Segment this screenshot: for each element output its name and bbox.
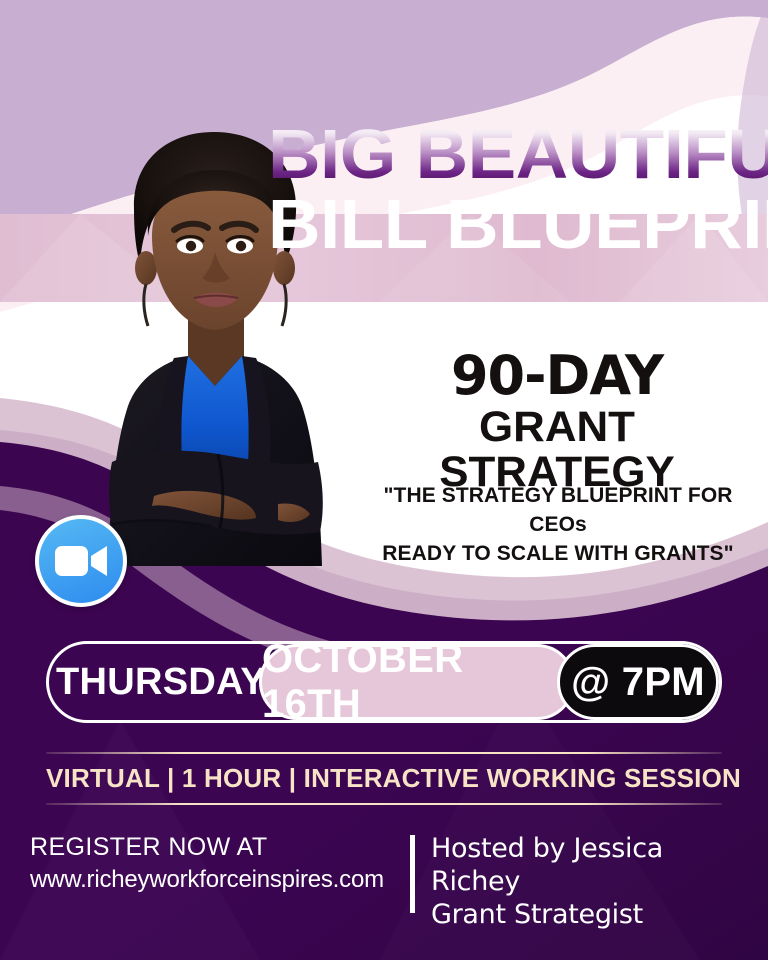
event-format-strip: VIRTUAL | 1 HOUR | INTERACTIVE WORKING S… (46, 752, 722, 805)
host-title: Grant Strategist (431, 899, 740, 932)
register-url[interactable]: www.richeyworkforceinspires.com (30, 866, 402, 895)
registration-block: REGISTER NOW AT www.richeyworkforceinspi… (30, 833, 402, 894)
event-date-bar: THURSDAY OCTOBER 16TH @ 7PM (46, 641, 722, 723)
event-date: OCTOBER 16TH (259, 644, 575, 720)
zoom-video-camera-icon (35, 515, 127, 607)
headline-line-1: BIG BEAUTIFUL (268, 122, 768, 186)
register-label: REGISTER NOW AT (30, 833, 402, 863)
footer-divider (410, 835, 415, 913)
event-day: THURSDAY (49, 644, 273, 720)
event-format-text: VIRTUAL | 1 HOUR | INTERACTIVE WORKING S… (46, 754, 722, 803)
tagline-line-1: "THE STRATEGY BLUEPRINT FOR CEOs (362, 482, 754, 540)
duration-text: 90-DAY (360, 348, 754, 403)
page-title: BIG BEAUTIFUL BILL BLUEPRINT (268, 122, 754, 259)
host-name: Hosted by Jessica Richey (431, 833, 740, 899)
tagline-line-2: READY TO SCALE WITH GRANTS" (362, 540, 754, 569)
headline-line-2: BILL BLUEPRINT (268, 190, 768, 259)
subheadline-block: 90-DAY GRANT STRATEGY (360, 348, 754, 495)
divider-line-bottom (46, 803, 722, 805)
host-block: Hosted by Jessica Richey Grant Strategis… (431, 833, 740, 932)
flyer-poster: BIG BEAUTIFUL BILL BLUEPRINT 90-DAY GRAN… (0, 0, 768, 960)
event-time: @ 7PM (557, 644, 719, 720)
tagline: "THE STRATEGY BLUEPRINT FOR CEOs READY T… (362, 482, 754, 569)
footer: REGISTER NOW AT www.richeyworkforceinspi… (30, 833, 740, 932)
